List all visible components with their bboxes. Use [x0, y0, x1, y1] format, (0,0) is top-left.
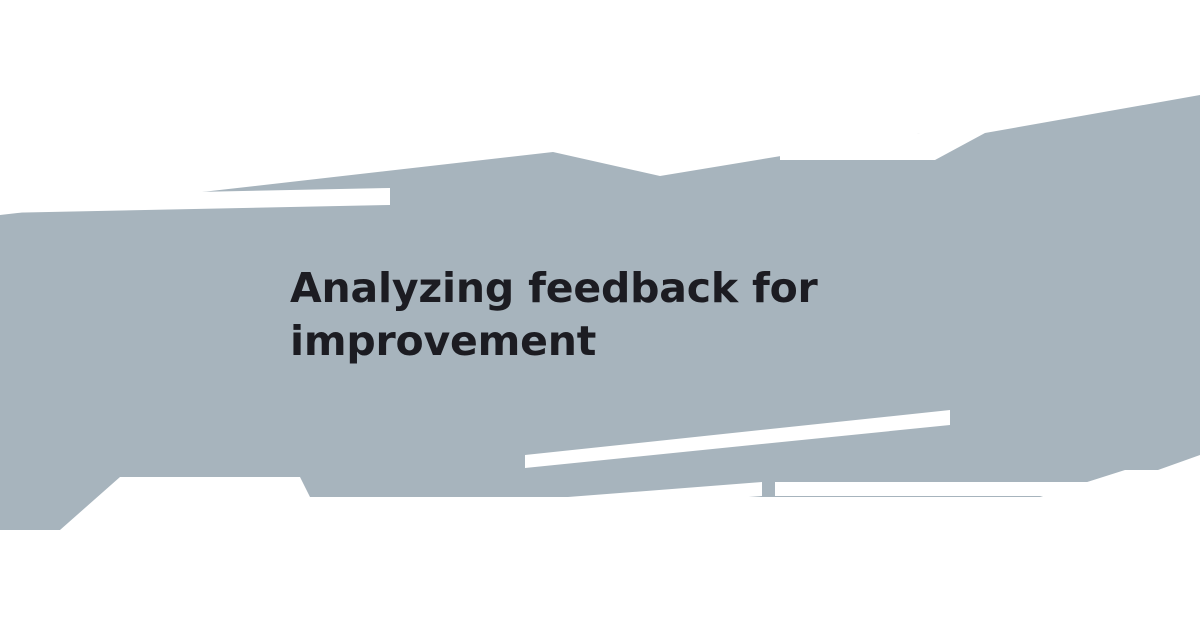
- title-container: Analyzing feedback for improvement: [0, 262, 1200, 369]
- banner-image: Analyzing feedback for improvement: [0, 0, 1200, 630]
- white-dash-marks: [698, 140, 774, 154]
- page-title: Analyzing feedback for improvement: [290, 262, 910, 369]
- white-tick-bottom-left: [18, 560, 30, 568]
